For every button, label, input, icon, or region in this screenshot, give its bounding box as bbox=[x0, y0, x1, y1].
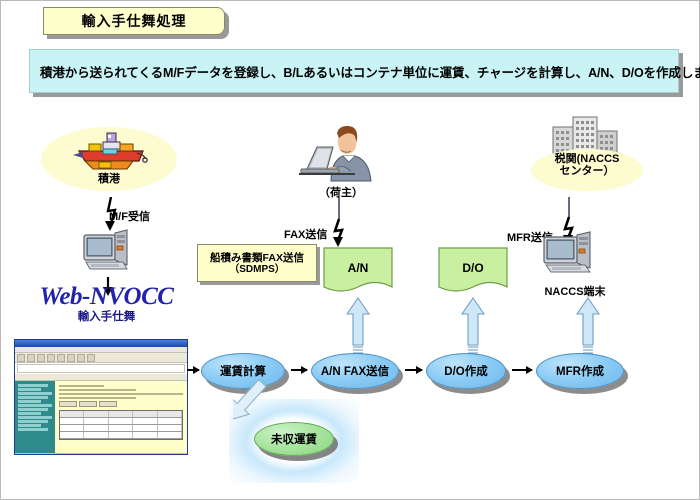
process-step-label: A/N FAX送信 bbox=[321, 363, 389, 379]
an-up-arrow bbox=[346, 297, 370, 355]
port-label: 積港 bbox=[41, 173, 177, 185]
screenshot-statusbar bbox=[15, 453, 187, 455]
mfr-up-arrow bbox=[576, 297, 600, 355]
connector-arrow-4 bbox=[512, 369, 532, 371]
fax-transmission-label: FAX送信 bbox=[284, 226, 327, 242]
document-an-label: A/N bbox=[323, 261, 393, 275]
person-at-laptop-icon bbox=[297, 125, 385, 183]
screenshot-toolbar bbox=[15, 353, 187, 363]
sub-process-label: 未収運賃 bbox=[271, 431, 317, 447]
cargo-ship-icon bbox=[73, 131, 149, 175]
process-step-do-sakusei[interactable]: D/O作成 bbox=[426, 353, 506, 389]
document-do-label: D/O bbox=[438, 261, 508, 275]
brand-subtitle: 輸入手仕舞 bbox=[19, 310, 194, 324]
page-title: 輸入手仕舞処理 bbox=[82, 11, 187, 31]
sub-process-misyu-unchin[interactable]: 未収運賃 bbox=[254, 422, 334, 456]
connector-arrow-2 bbox=[291, 369, 307, 371]
screenshot-body bbox=[15, 381, 187, 453]
description-text: 積港から送られてくるM/Fデータを登録し、B/Lあるいはコンテナ単位に運賃、チャ… bbox=[30, 62, 700, 81]
brand-block: Web-NVOCC 輸入手仕舞 bbox=[19, 284, 194, 324]
application-screenshot[interactable] bbox=[14, 339, 188, 455]
naccs-terminal-label: NACCS端末 bbox=[529, 283, 621, 299]
screenshot-form-area bbox=[55, 381, 187, 453]
description-banner: 積港から送られてくるM/Fデータを登録し、B/Lあるいはコンテナ単位に運賃、チャ… bbox=[29, 49, 679, 93]
connector-arrow-1 bbox=[187, 369, 199, 371]
diagram-canvas: 輸入手仕舞処理 積港から送られてくるM/Fデータを登録し、B/Lあるいはコンテナ… bbox=[0, 0, 700, 500]
process-step-label: D/O作成 bbox=[444, 363, 487, 379]
process-step-an-fax[interactable]: A/N FAX送信 bbox=[311, 353, 399, 389]
screenshot-addressbar bbox=[17, 364, 185, 373]
connector-arrow-3 bbox=[405, 369, 422, 371]
customs-label-line2: センター） bbox=[531, 165, 643, 177]
mf-transmission-label: M/F受信 bbox=[109, 208, 150, 224]
document-do: D/O bbox=[438, 247, 508, 295]
system-computer-icon bbox=[83, 229, 141, 281]
screenshot-table bbox=[59, 410, 183, 440]
page-title-tab: 輸入手仕舞処理 bbox=[43, 7, 225, 35]
process-step-label: MFR作成 bbox=[556, 363, 604, 379]
screenshot-linksbar bbox=[15, 374, 187, 381]
screenshot-sidebar bbox=[15, 381, 55, 453]
brand-name: Web-NVOCC bbox=[19, 284, 194, 310]
sdmps-note: 船積み書類FAX送信 （SDMPS） bbox=[197, 244, 317, 282]
do-up-arrow bbox=[461, 297, 485, 355]
process-step-label: 運賃計算 bbox=[220, 363, 266, 379]
customs-label-line1: 税関(NACCS bbox=[531, 153, 643, 165]
screenshot-titlebar bbox=[15, 340, 187, 347]
process-step-mfr-sakusei[interactable]: MFR作成 bbox=[536, 353, 624, 389]
customs-label: 税関(NACCS センター） bbox=[531, 153, 643, 177]
naccs-terminal-icon bbox=[543, 231, 605, 283]
document-an: A/N bbox=[323, 247, 393, 295]
sdmps-line1: 船積み書類FAX送信 bbox=[210, 252, 304, 264]
sdmps-line2: （SDMPS） bbox=[229, 264, 285, 275]
